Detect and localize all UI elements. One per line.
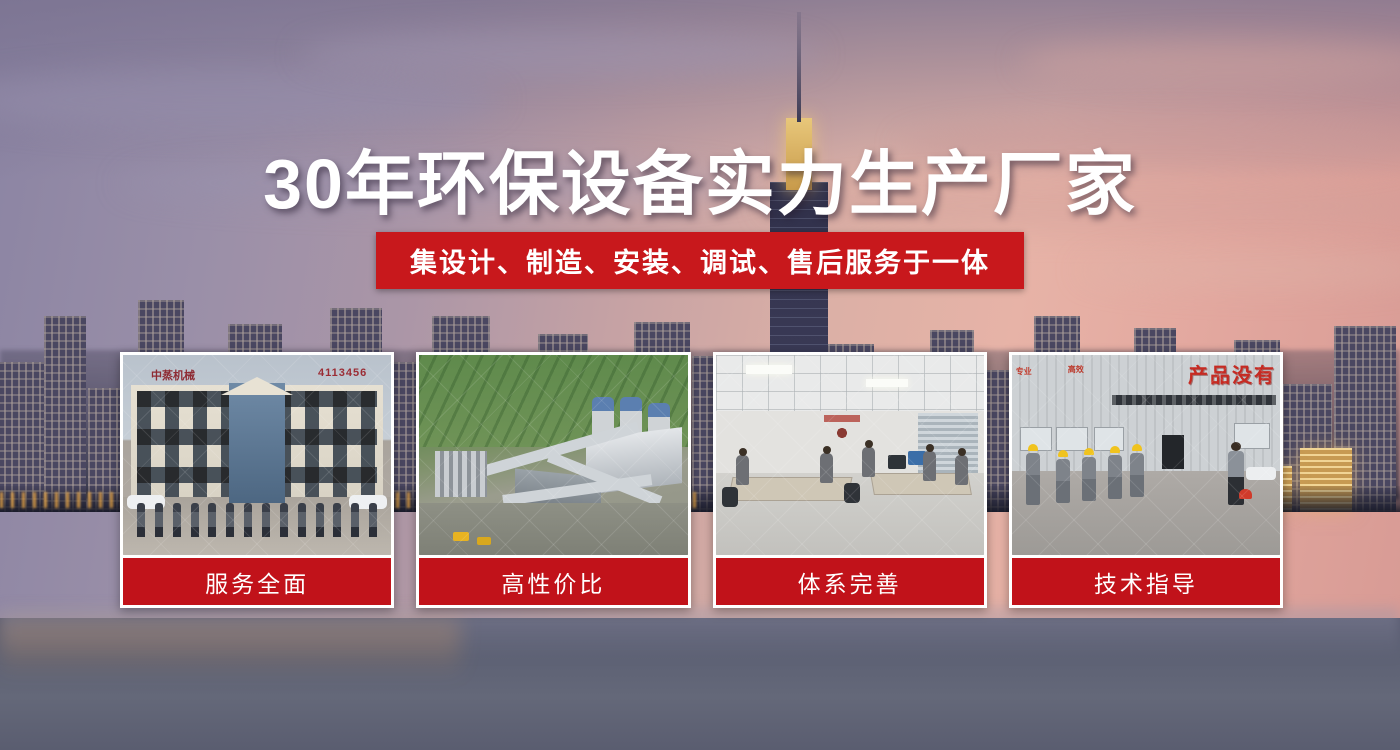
hero-banner: 30年环保设备实力生产厂家 集设计、制造、安装、调试、售后服务于一体 中蒸机械 … <box>0 0 1400 750</box>
ceiling-light <box>866 379 908 387</box>
workshop-small-sign-text-2: 高效 <box>1068 365 1084 375</box>
water-haze <box>0 608 1400 658</box>
processing-stacks <box>435 451 487 497</box>
wall-decal <box>820 415 864 445</box>
workshop-workers-training-photo: 产品没有 专业 高效 <box>1012 355 1280 555</box>
ceiling-light <box>746 365 792 374</box>
office-worker <box>820 453 833 483</box>
subtitle-banner: 集设计、制造、安装、调试、售后服务于一体 <box>376 232 1024 289</box>
worker-with-helmet <box>1082 457 1096 501</box>
parked-car <box>1246 467 1276 480</box>
office-interior-staff-photo <box>716 355 984 555</box>
feature-card-label: 技术指导 <box>1012 555 1280 605</box>
page-title: 30年环保设备实力生产厂家 <box>0 128 1400 229</box>
office-worker <box>923 451 936 481</box>
feature-card-label: 服务全面 <box>123 555 391 605</box>
river-water <box>0 618 1400 750</box>
facade-window-strip <box>1112 395 1276 405</box>
workshop-small-sign-text: 专业 <box>1016 367 1032 377</box>
office-worker <box>736 455 749 485</box>
feature-card-guidance[interactable]: 产品没有 专业 高效 技术指导 <box>1009 352 1283 608</box>
cloud-band <box>300 30 820 78</box>
feature-card-system[interactable]: 体系完善 <box>713 352 987 608</box>
computer-monitor <box>888 455 906 469</box>
staff-row <box>137 503 377 537</box>
feature-card-service[interactable]: 中蒸机械 4113456 服务全面 <box>120 352 394 608</box>
workshop-door <box>1162 435 1184 469</box>
office-chair <box>844 483 860 503</box>
company-office-building-staff-photo: 中蒸机械 4113456 <box>123 355 391 555</box>
feature-card-list: 中蒸机械 4113456 服务全面 <box>120 352 1283 608</box>
feature-card-value[interactable]: 高性价比 <box>416 352 690 608</box>
building-silhouette <box>44 316 86 512</box>
worker-with-helmet <box>1130 453 1144 497</box>
building-pediment <box>221 377 293 395</box>
aerial-industrial-plant-photo <box>419 355 687 555</box>
feature-card-label: 体系完善 <box>716 555 984 605</box>
worker-with-helmet <box>1056 459 1070 503</box>
red-helmet-icon <box>1239 489 1252 499</box>
construction-vehicle <box>477 537 491 545</box>
worker-with-helmet <box>1108 455 1122 499</box>
plant-yard <box>419 503 687 555</box>
company-sign-text: 中蒸机械 <box>151 367 195 383</box>
skyscraper-antenna <box>797 12 801 122</box>
office-ceiling <box>716 355 984 411</box>
feature-card-label: 高性价比 <box>419 555 687 605</box>
building-atrium <box>229 383 285 503</box>
office-worker <box>955 455 968 485</box>
construction-vehicle <box>453 532 469 541</box>
workshop-sign-text: 产品没有 <box>1188 359 1276 388</box>
workshop-window <box>1056 427 1088 451</box>
worker-with-helmet <box>1026 453 1040 505</box>
office-chair <box>722 487 738 507</box>
company-phone-text: 4113456 <box>318 367 367 379</box>
office-worker <box>862 447 875 477</box>
